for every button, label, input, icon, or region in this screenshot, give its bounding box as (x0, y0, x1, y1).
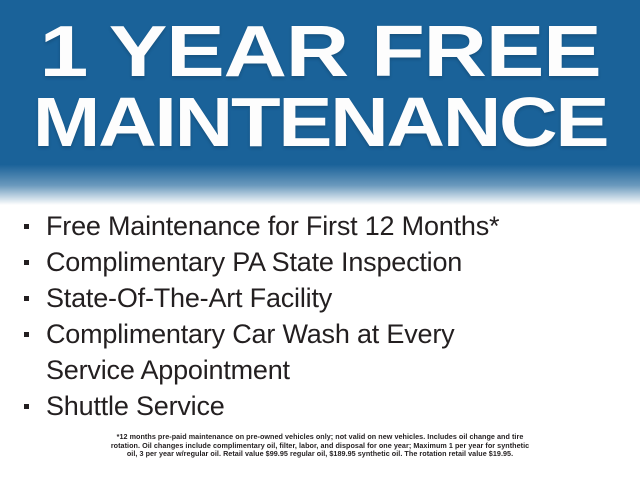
square-bullet-icon (24, 280, 46, 316)
disclaimer-text: *12 months pre-paid maintenance on pre-o… (30, 433, 610, 459)
list-item-line: Shuttle Service (46, 388, 624, 424)
disclaimer-line-3: oil, 3 per year w/regular oil. Retail va… (30, 450, 610, 459)
list-item-text: Shuttle Service (46, 388, 624, 424)
list-item-text: Complimentary PA State Inspection (46, 244, 624, 280)
headline-banner: 1 YEAR FREE MAINTENANCE (0, 0, 640, 205)
list-item: Complimentary PA State Inspection (24, 244, 624, 280)
benefits-list: Free Maintenance for First 12 Months* Co… (24, 208, 624, 424)
promo-card: 1 YEAR FREE MAINTENANCE Free Maintenance… (0, 0, 640, 480)
list-item: State-Of-The-Art Facility (24, 280, 624, 316)
list-item-text: State-Of-The-Art Facility (46, 280, 624, 316)
headline-line-1: 1 YEAR FREE (0, 16, 640, 88)
list-item: Shuttle Service (24, 388, 624, 424)
list-item-line-continued: Service Appointment (46, 352, 624, 388)
headline-line-2: MAINTENANCE (0, 87, 640, 157)
square-bullet-icon (24, 208, 46, 244)
square-bullet-icon (24, 388, 46, 424)
list-item: Free Maintenance for First 12 Months* (24, 208, 624, 244)
list-item-line: Complimentary PA State Inspection (46, 244, 624, 280)
list-item-line: Free Maintenance for First 12 Months* (46, 208, 624, 244)
list-item: Complimentary Car Wash at Every Service … (24, 316, 624, 388)
square-bullet-icon (24, 316, 46, 352)
list-item-line: Complimentary Car Wash at Every (46, 316, 624, 352)
list-item-text: Complimentary Car Wash at Every Service … (46, 316, 624, 388)
list-item-text: Free Maintenance for First 12 Months* (46, 208, 624, 244)
square-bullet-icon (24, 244, 46, 280)
list-item-line: State-Of-The-Art Facility (46, 280, 624, 316)
